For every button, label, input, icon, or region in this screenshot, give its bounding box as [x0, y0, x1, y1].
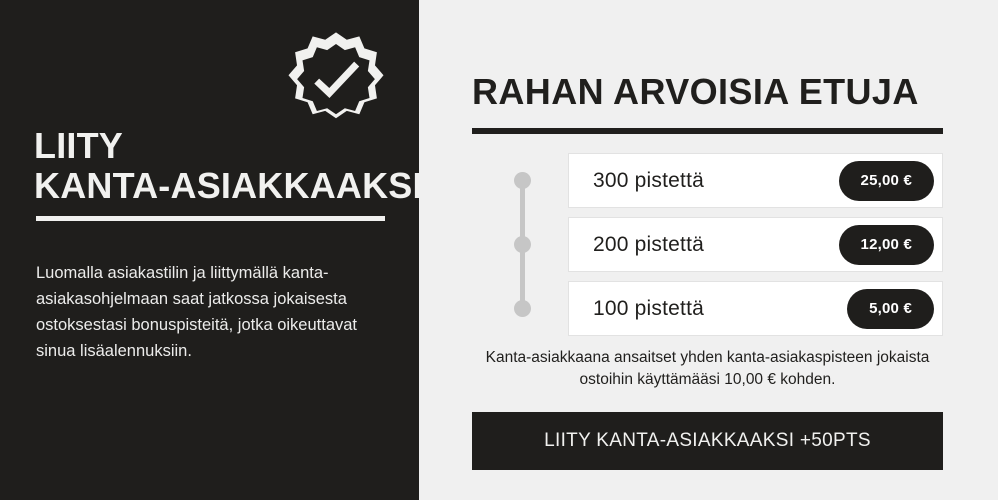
reward-value-badge: 25,00 € [839, 161, 934, 201]
reward-row: 100 pistettä 5,00 € [568, 281, 943, 336]
timeline-dot-1 [514, 172, 531, 189]
timeline-dot-3 [514, 300, 531, 317]
page-title: RAHAN ARVOISIA ETUJA [472, 71, 972, 113]
title-divider [472, 128, 943, 134]
reward-value-badge: 12,00 € [839, 225, 934, 265]
left-panel: LIITY KANTA-ASIAKKAAKSI Luomalla asiakas… [0, 0, 419, 500]
reward-points-label: 200 pistettä [593, 233, 704, 257]
left-heading-line-2: KANTA-ASIAKKAAKSI [34, 166, 404, 206]
left-heading-divider [36, 216, 385, 221]
join-loyalty-program-button[interactable]: LIITY KANTA-ASIAKKAAKSI +50pts [472, 412, 943, 470]
reward-value-badge: 5,00 € [847, 289, 934, 329]
reward-row: 300 pistettä 25,00 € [568, 153, 943, 208]
reward-row: 200 pistettä 12,00 € [568, 217, 943, 272]
loyalty-program-banner: LIITY KANTA-ASIAKKAAKSI Luomalla asiakas… [0, 0, 998, 500]
left-heading-line-1: LIITY [34, 126, 404, 166]
rewards-list: 300 pistettä 25,00 € 200 pistettä 12,00 … [568, 153, 943, 345]
timeline-dot-2 [514, 236, 531, 253]
left-body-text: Luomalla asiakastilin ja liittymällä kan… [36, 260, 388, 364]
reward-points-label: 300 pistettä [593, 169, 704, 193]
rewards-timeline [514, 172, 532, 318]
verified-badge-check-icon [288, 30, 384, 126]
earning-rate-note: Kanta-asiakkaana ansaitset yhden kanta-a… [472, 347, 943, 391]
reward-points-label: 100 pistettä [593, 297, 704, 321]
left-heading: LIITY KANTA-ASIAKKAAKSI [34, 126, 404, 206]
